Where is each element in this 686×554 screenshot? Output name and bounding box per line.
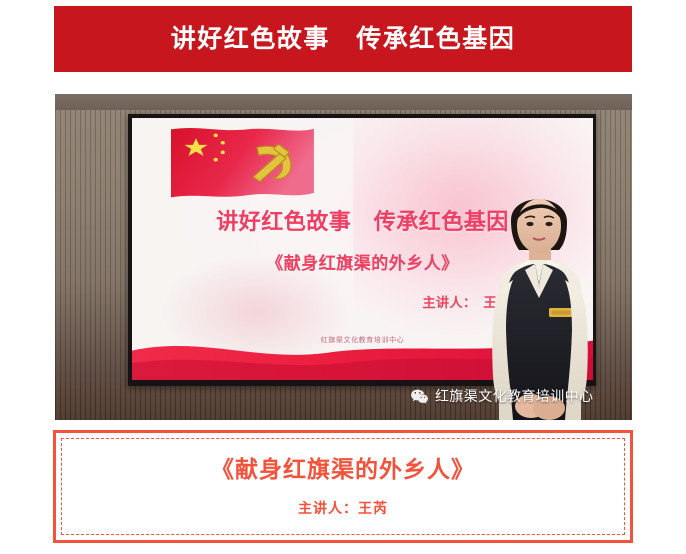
page-title: 讲好红色故事 传承红色基因 [171,27,516,52]
presenter-figure [473,180,605,420]
caption-inner-dashed-border: 《献身红旗渠的外乡人》 主讲人：王芮 [61,438,625,535]
lecture-photo: 讲好红色故事 传承红色基因 《献身红旗渠的外乡人》 主讲人： 王 芮 红旗渠文化… [55,94,632,420]
watermark-text: 红旗渠文化教育培训中心 [435,386,593,406]
china-party-flag-icon [171,125,314,206]
caption-title: 《献身红旗渠的外乡人》 [211,458,475,481]
caption-box: 《献身红旗渠的外乡人》 主讲人：王芮 [53,430,633,543]
wall-top-trim [55,94,632,110]
wechat-icon [410,387,429,406]
header-banner: 讲好红色故事 传承红色基因 [54,6,632,72]
watermark: 红旗渠文化教育培训中心 [410,386,593,406]
caption-speaker: 主讲人：王芮 [298,501,388,515]
